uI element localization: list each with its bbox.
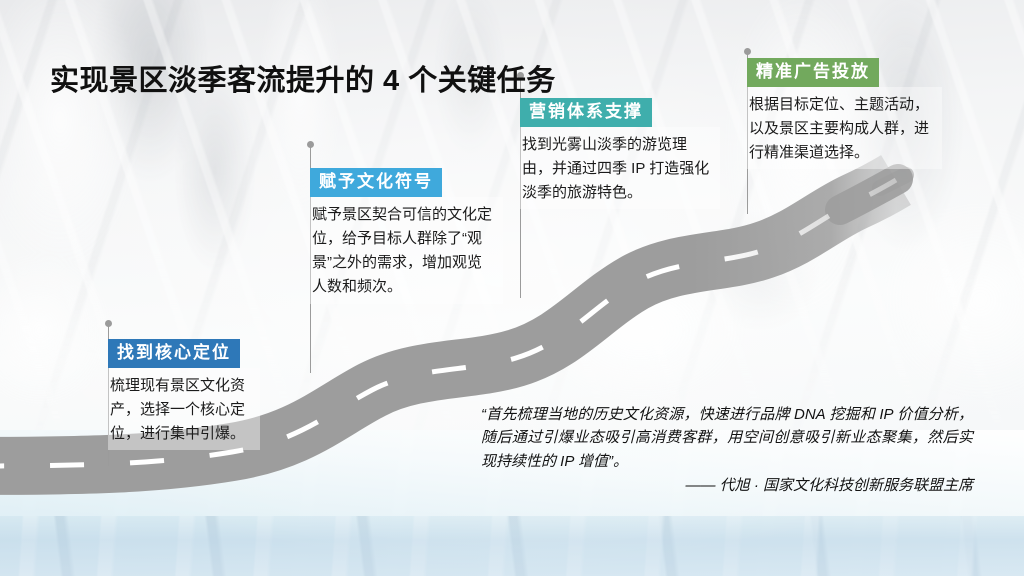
card-1[interactable]: 找到核心定位 梳理现有景区文化资产，选择一个核心定位，进行集中引爆。 <box>108 339 260 450</box>
card-4-header: 精准广告投放 <box>747 58 879 87</box>
card-3[interactable]: 营销体系支撑 找到光雾山淡季的游览理由，并通过四季 IP 打造强化淡季的旅游特色… <box>520 98 720 209</box>
quote-block: “首先梳理当地的历史文化资源，快速进行品牌 DNA 挖掘和 IP 价值分析，随后… <box>481 403 973 497</box>
card-4[interactable]: 精准广告投放 根据目标定位、主题活动，以及景区主要构成人群，进行精准渠道选择。 <box>747 58 942 169</box>
card-2-body: 赋予景区契合可信的文化定位，给予目标人群除了“观景”之外的需求，增加观览人数和频… <box>310 197 503 304</box>
quote-attribution: —— 代旭 · 国家文化科技创新服务联盟主席 <box>481 474 973 497</box>
card-2-header: 赋予文化符号 <box>310 168 442 197</box>
card-1-dot <box>105 320 112 327</box>
quote-text: “首先梳理当地的历史文化资源，快速进行品牌 DNA 挖掘和 IP 价值分析，随后… <box>481 403 973 473</box>
card-2[interactable]: 赋予文化符号 赋予景区契合可信的文化定位，给予目标人群除了“观景”之外的需求，增… <box>310 168 503 304</box>
page-title: 实现景区淡季客流提升的 4 个关键任务 <box>50 57 556 99</box>
card-4-body: 根据目标定位、主题活动，以及景区主要构成人群，进行精准渠道选择。 <box>747 87 942 170</box>
card-1-header: 找到核心定位 <box>108 339 240 368</box>
card-2-dot <box>307 141 314 148</box>
card-1-body: 梳理现有景区文化资产，选择一个核心定位，进行集中引爆。 <box>108 368 260 451</box>
card-3-header: 营销体系支撑 <box>520 98 652 127</box>
card-3-body: 找到光雾山淡季的游览理由，并通过四季 IP 打造强化淡季的旅游特色。 <box>520 127 720 210</box>
card-4-dot <box>744 48 751 55</box>
slide-canvas: 实现景区淡季客流提升的 4 个关键任务 找到核心定位 梳理现有景区文化资产，选择… <box>0 0 1024 576</box>
